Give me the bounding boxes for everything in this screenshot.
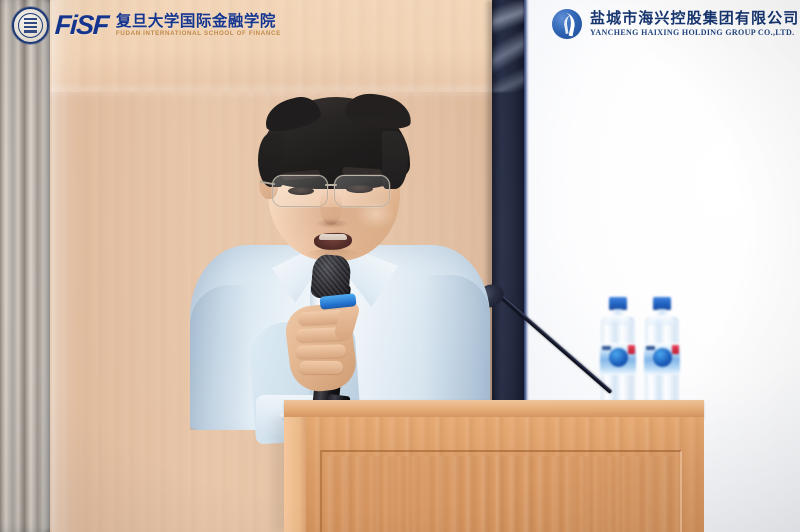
nostril-shadow bbox=[316, 219, 348, 228]
haixing-chinese-name: 盐城市海兴控股集团有限公司 bbox=[590, 10, 799, 27]
yancheng-haixing-logo: 盐城市海兴控股集团有限公司 YANCHENG HAIXING HOLDING G… bbox=[552, 9, 799, 39]
bottle-label bbox=[600, 343, 636, 375]
fisf-text-block: 复旦大学国际金融学院 FUDAN INTERNATIONAL SCHOOL OF… bbox=[116, 13, 281, 38]
haixing-text-block: 盐城市海兴控股集团有限公司 YANCHENG HAIXING HOLDING G… bbox=[590, 10, 799, 37]
bottle-label-accent bbox=[628, 345, 635, 354]
fisf-acronym: FiSF bbox=[54, 12, 108, 39]
water-bottles bbox=[598, 297, 690, 405]
podium-left-edge bbox=[284, 417, 306, 532]
shirt-shadow-left bbox=[190, 285, 250, 430]
fudan-fisf-logo: FiSF 复旦大学国际金融学院 FUDAN INTERNATIONAL SCHO… bbox=[12, 7, 281, 44]
haixing-swirl-mark-icon bbox=[552, 9, 582, 39]
fisf-chinese-name: 复旦大学国际金融学院 bbox=[116, 13, 281, 29]
bottle-label-dot bbox=[609, 348, 628, 367]
bottle-label-accent bbox=[672, 345, 679, 354]
speaker bbox=[160, 95, 490, 425]
bottle-label-text bbox=[602, 346, 611, 350]
speaker-photo: FiSF 复旦大学国际金融学院 FUDAN INTERNATIONAL SCHO… bbox=[0, 0, 800, 532]
bottle-label-dot bbox=[653, 348, 672, 367]
fisf-english-name: FUDAN INTERNATIONAL SCHOOL OF FINANCE bbox=[116, 30, 281, 37]
lens-right bbox=[334, 175, 390, 207]
curtain-edge-highlight bbox=[44, 0, 58, 532]
wooden-podium bbox=[284, 400, 704, 532]
dark-display-glare bbox=[492, 0, 524, 92]
podium-panel-grain bbox=[326, 456, 676, 532]
fudan-university-seal-icon bbox=[12, 7, 49, 44]
water-bottle bbox=[642, 297, 682, 405]
bottle-label bbox=[644, 343, 680, 375]
podium-recessed-panel bbox=[320, 450, 682, 532]
haixing-english-name: YANCHENG HAIXING HOLDING GROUP CO.,LTD. bbox=[590, 28, 799, 38]
glasses-bridge bbox=[325, 184, 337, 186]
bottle-label-text bbox=[646, 346, 655, 350]
teeth bbox=[319, 234, 347, 240]
finger bbox=[299, 361, 343, 374]
curtain-sheen bbox=[0, 0, 50, 532]
finger bbox=[296, 344, 346, 359]
